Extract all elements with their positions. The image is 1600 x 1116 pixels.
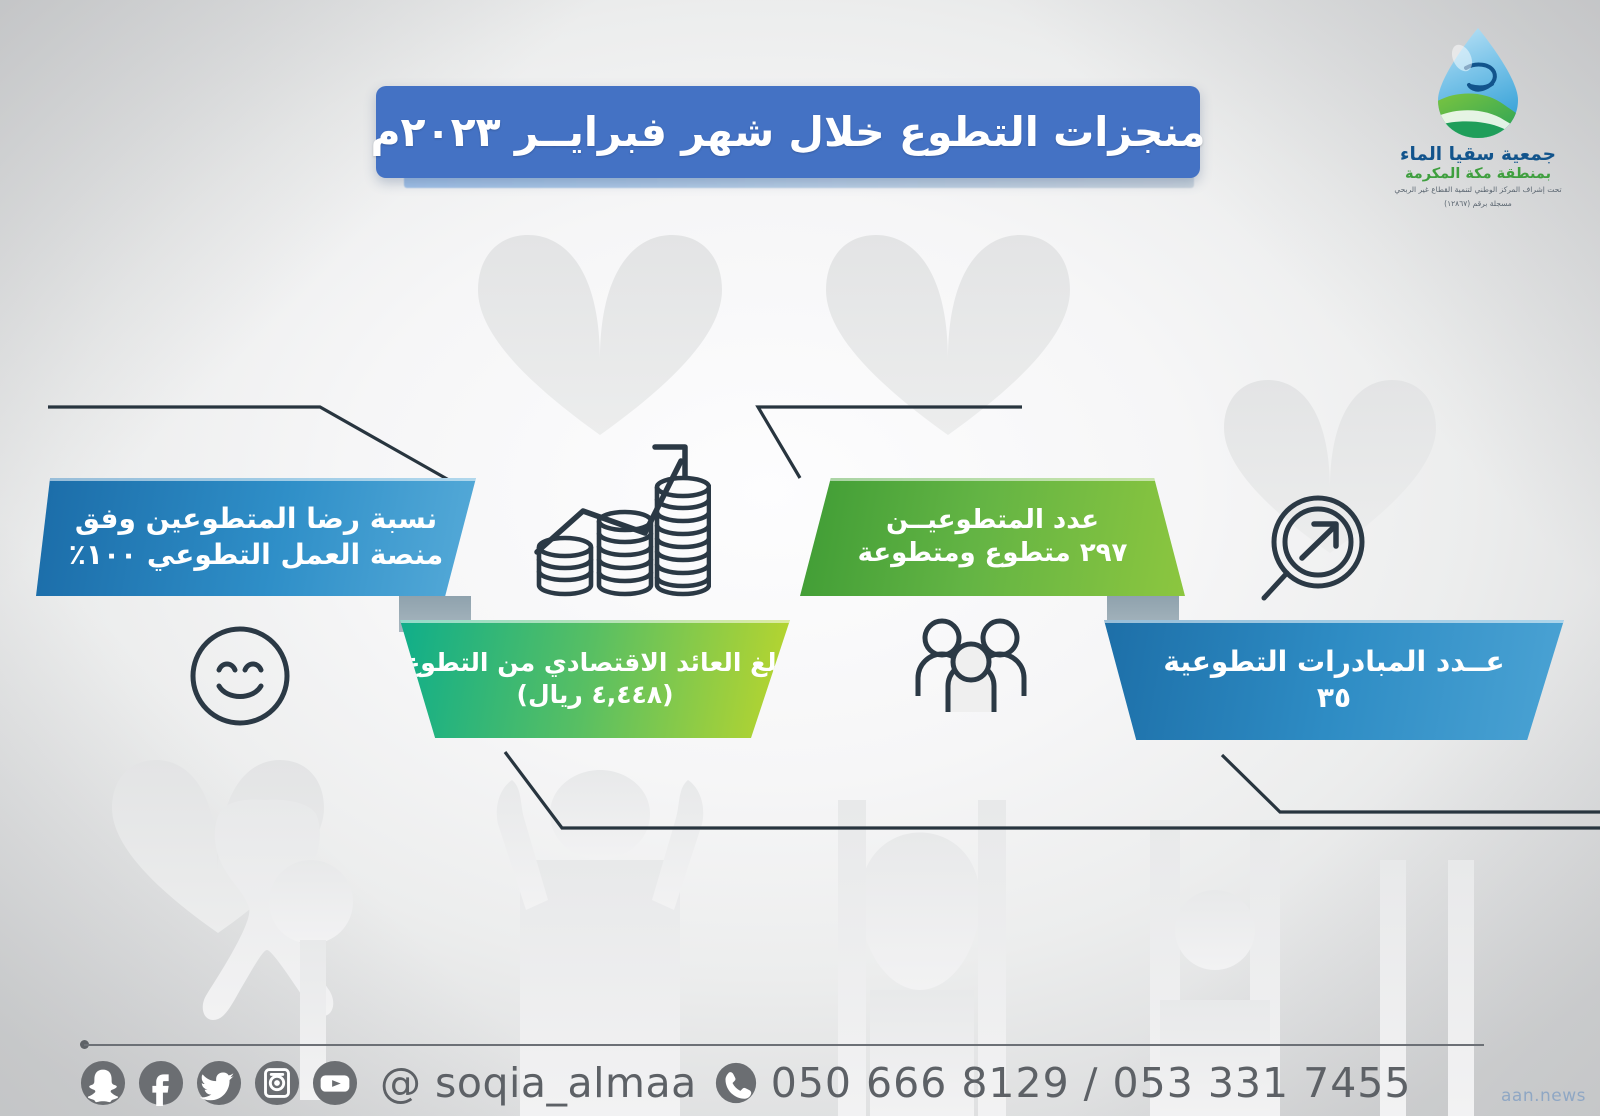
group-people-icon: [912, 612, 1028, 712]
phone-numbers: 050 666 8129 / 053 331 7455: [771, 1059, 1412, 1107]
stat-economic-line1: بلغ العائد الاقتصادي من التطوع: [403, 647, 787, 679]
stat-banner-initiatives[interactable]: عــدد المبادرات التطوعية ٣٥: [1104, 620, 1564, 740]
twitter-icon[interactable]: [196, 1060, 242, 1106]
water-drop-icon: [1426, 24, 1530, 142]
stat-initiatives-line2: ٣٥: [1317, 680, 1351, 716]
stat-economic-line2: (٤,٤٤٨ ريال): [517, 679, 674, 711]
stat-banner-satisfaction[interactable]: نسبة رضا المتطوعين وفق منصة العمل التطوع…: [36, 478, 476, 596]
logo-registration-text: مسجلة برقم (١٢٨٦٧): [1383, 199, 1573, 210]
phone-icon: [715, 1062, 757, 1104]
title-block: منجزات التطوع خلال شهر فبرايــر ٢٠٢٣م: [376, 86, 1200, 186]
stat-initiatives-line1: عــدد المبادرات التطوعية: [1163, 644, 1504, 680]
title-banner: منجزات التطوع خلال شهر فبرايــر ٢٠٢٣م: [376, 86, 1200, 178]
banner-highlight: [36, 478, 476, 481]
footer-divider: [84, 1044, 1484, 1046]
stat-satisfaction-line1: نسبة رضا المتطوعين وفق: [75, 501, 437, 537]
snapchat-icon[interactable]: [80, 1060, 126, 1106]
banner-highlight: [1104, 620, 1564, 623]
stat-banner-volunteers[interactable]: عدد المتطوعيــن ٢٩٧ متطوع ومتطوعة: [800, 478, 1185, 596]
social-handle[interactable]: @ soqia_almaa: [380, 1059, 697, 1107]
smiley-face-icon: [186, 622, 294, 730]
stat-volunteers-line1: عدد المتطوعيــن: [886, 504, 1099, 537]
banner-highlight: [800, 478, 1185, 481]
logo-name-primary: جمعية سقيا الماء: [1383, 144, 1573, 165]
page-title: منجزات التطوع خلال شهر فبرايــر ٢٠٢٣م: [370, 108, 1205, 156]
stat-banner-economic-return[interactable]: بلغ العائد الاقتصادي من التطوع (٤,٤٤٨ ري…: [400, 620, 790, 738]
magnifier-arrow-icon: [1256, 492, 1368, 608]
stat-volunteers-line2: ٢٩٧ متطوع ومتطوعة: [858, 537, 1128, 570]
logo-name-secondary: بمنطقة مكة المكرمة: [1383, 166, 1573, 182]
youtube-icon[interactable]: [312, 1060, 358, 1106]
organization-logo: جمعية سقيا الماء بمنطقة مكة المكرمة تحت …: [1383, 24, 1573, 219]
footer-bar: @ soqia_almaa 050 666 8129 / 053 331 745…: [80, 1052, 1510, 1114]
facebook-icon[interactable]: [138, 1060, 184, 1106]
coins-growth-icon: [515, 425, 711, 605]
logo-supervision-text: تحت إشراف المركز الوطني لتنمية القطاع غي…: [1383, 185, 1573, 196]
watermark: aan.news: [1501, 1086, 1586, 1106]
instagram-icon[interactable]: [254, 1060, 300, 1106]
banner-highlight: [400, 620, 790, 623]
stat-satisfaction-line2: منصة العمل التطوعي ١٠٠٪: [69, 537, 443, 573]
